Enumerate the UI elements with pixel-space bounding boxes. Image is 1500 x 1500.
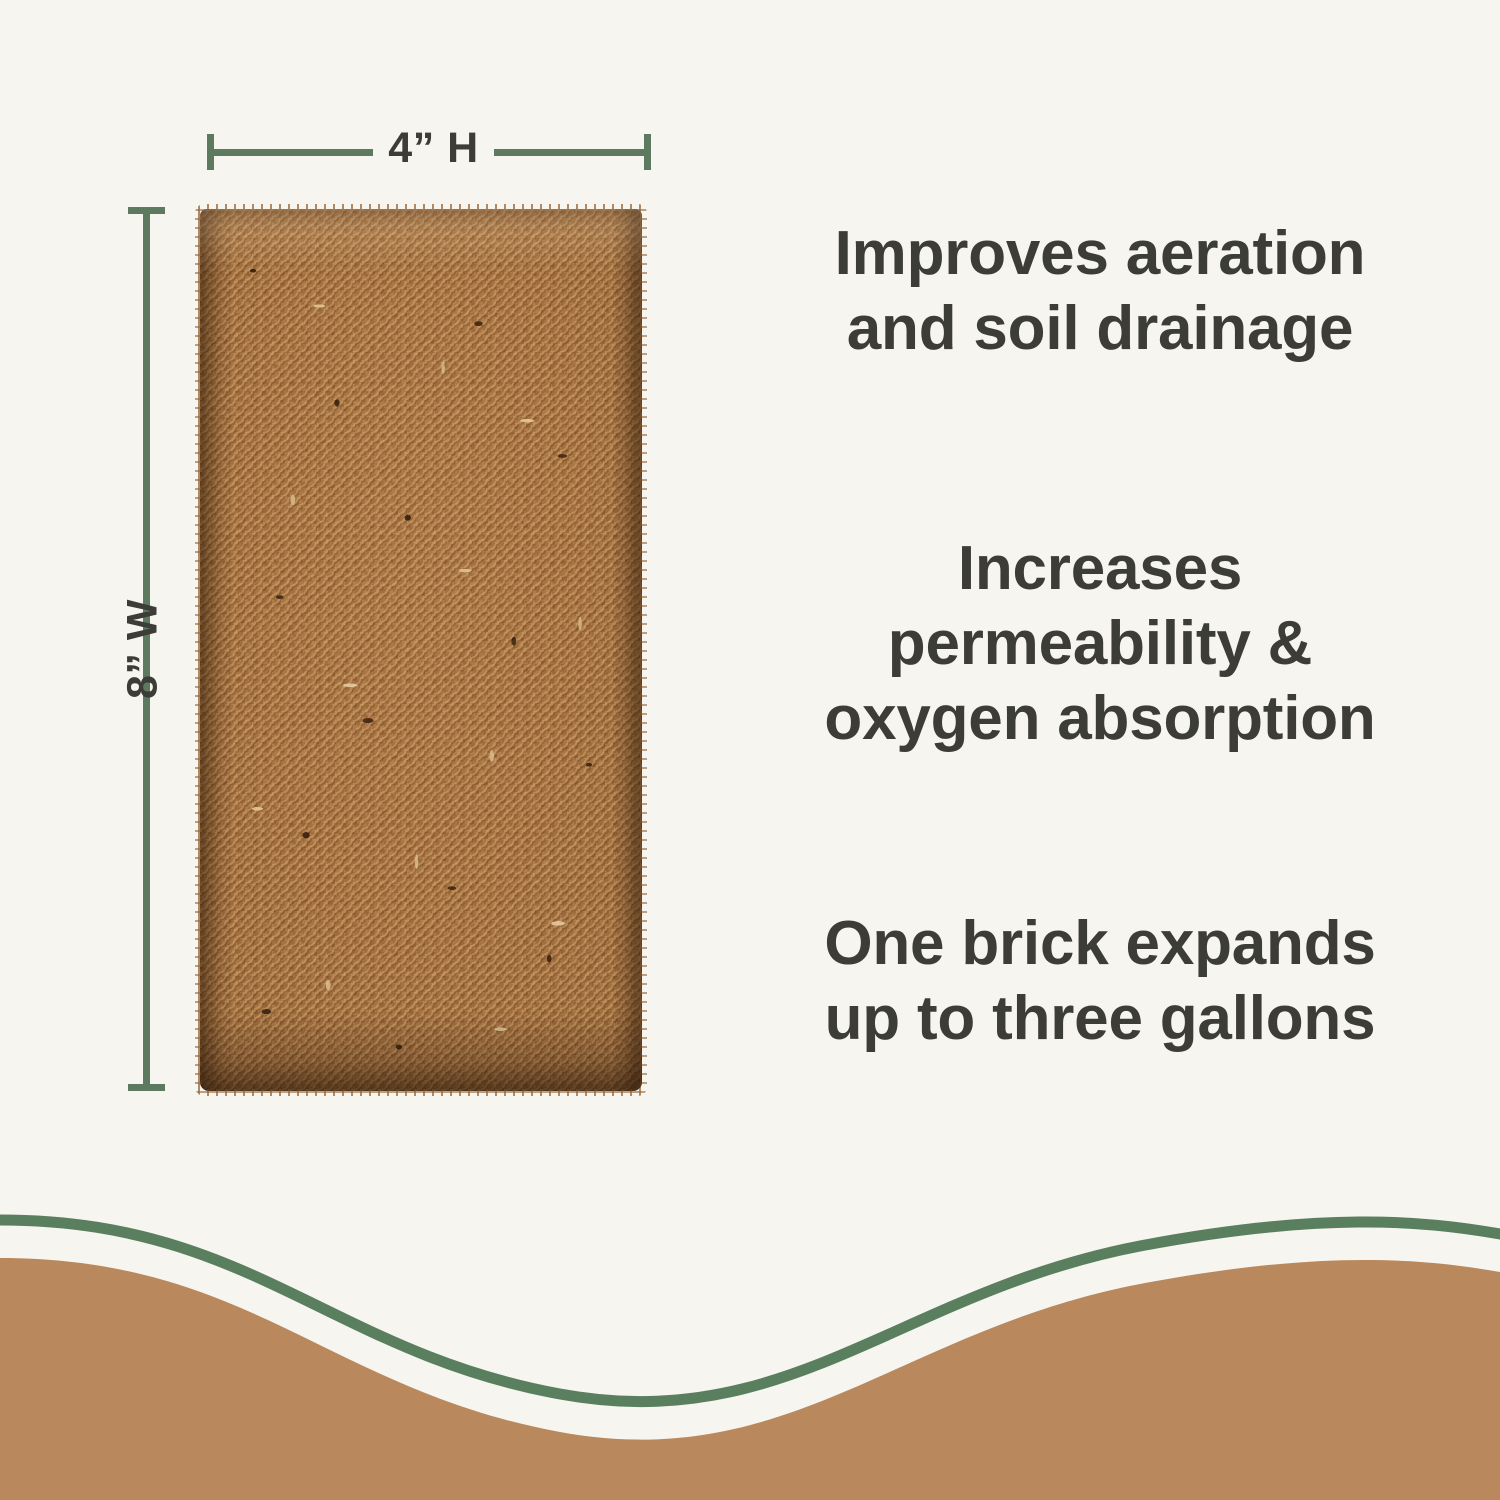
- benefit-3-line-1: One brick expands: [700, 906, 1500, 981]
- benefit-item-1: Improves aeration and soil drainage: [700, 216, 1500, 366]
- vertical-dimension-label: 8” W: [119, 599, 168, 699]
- benefits-panel: Improves aeration and soil drainage Incr…: [700, 0, 1500, 1200]
- benefit-1-line-1: Improves aeration: [700, 216, 1500, 291]
- horizontal-dimension-line-left: [210, 149, 373, 156]
- product-image-panel: 4” H 8” W: [0, 0, 740, 1200]
- benefit-item-3: One brick expands up to three gallons: [700, 906, 1500, 1056]
- benefit-2-line-2: permeability &: [700, 606, 1500, 681]
- horizontal-dimension-cap-right: [644, 134, 651, 170]
- benefit-3-line-2: up to three gallons: [700, 981, 1500, 1056]
- benefit-1-line-2: and soil drainage: [700, 291, 1500, 366]
- benefit-item-2: Increases permeability & oxygen absorpti…: [700, 531, 1500, 756]
- benefit-2-line-3: oxygen absorption: [700, 681, 1500, 756]
- infographic-page: 4” H 8” W Improves aeration and soil dra…: [0, 0, 1500, 1500]
- benefit-2-line-1: Increases: [700, 531, 1500, 606]
- horizontal-dimension-label: 4” H: [373, 117, 494, 179]
- wave-fill-shape: [0, 1258, 1500, 1500]
- coco-coir-brick-image: [200, 209, 642, 1091]
- horizontal-dimension-line-right: [494, 149, 648, 156]
- bottom-wave-divider: [0, 1180, 1500, 1500]
- vertical-dimension-cap-bottom: [128, 1084, 165, 1091]
